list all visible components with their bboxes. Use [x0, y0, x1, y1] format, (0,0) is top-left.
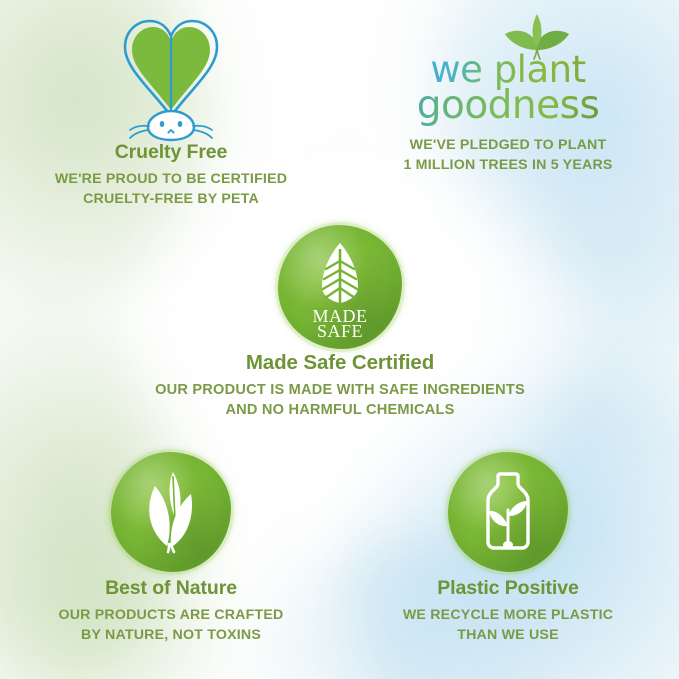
bottle-sprout-badge-icon: [448, 452, 568, 572]
made-safe-leaf-badge-icon: MADE SAFE: [278, 225, 402, 349]
badge-subtitle: WE'RE PROUD TO BE CERTIFIED CRUELTY-FREE…: [6, 170, 336, 209]
badge-plastic-positive: Plastic Positive WE RECYCLE MORE PLASTIC…: [343, 446, 673, 646]
subtitle-line: AND NO HARMFUL CHEMICALS: [110, 400, 570, 420]
subtitle-line: 1 MILLION TREES IN 5 YEARS: [343, 156, 673, 176]
subtitle-line: OUR PRODUCTS ARE CRAFTED: [6, 606, 336, 626]
subtitle-line: OUR PRODUCT IS MADE WITH SAFE INGREDIENT…: [110, 380, 570, 400]
three-leaves-glyph: [111, 452, 231, 572]
badge-cruelty-free: Cruelty Free WE'RE PROUD TO BE CERTIFIED…: [6, 10, 336, 210]
subtitle-line: THAN WE USE: [343, 626, 673, 646]
brand-values-poster: Cruelty Free WE'RE PROUD TO BE CERTIFIED…: [0, 0, 679, 679]
bottle-sprout-glyph: [448, 452, 568, 572]
badge-subtitle: WE RECYCLE MORE PLASTIC THAN WE USE: [343, 606, 673, 645]
subtitle-line: WE'VE PLEDGED TO PLANT: [343, 136, 673, 156]
subtitle-line: WE RECYCLE MORE PLASTIC: [343, 606, 673, 626]
badge-subtitle: WE'VE PLEDGED TO PLANT 1 MILLION TREES I…: [343, 136, 673, 175]
badge-made-safe-certified: MADE SAFE Made Safe Certified OUR PRODUC…: [110, 222, 570, 420]
badge-title: Cruelty Free: [6, 142, 336, 163]
logo-line-2: goodness: [398, 83, 618, 128]
cruelty-free-artwork: [6, 10, 336, 142]
we-plant-goodness-logo: we plant goodness: [398, 10, 618, 130]
three-leaves-badge-icon: [111, 452, 231, 572]
bunny-heart-icon: [112, 10, 230, 142]
badge-text-line-2: SAFE: [317, 321, 363, 341]
subtitle-line: CRUELTY-FREE BY PETA: [6, 190, 336, 210]
badge-title: Made Safe Certified: [110, 352, 570, 375]
badge-subtitle: OUR PRODUCT IS MADE WITH SAFE INGREDIENT…: [110, 380, 570, 420]
badge-we-plant-goodness: we plant goodness WE'VE PLEDGED TO PLANT…: [343, 10, 673, 175]
subtitle-line: WE'RE PROUD TO BE CERTIFIED: [6, 170, 336, 190]
plastic-positive-artwork: [343, 446, 673, 578]
subtitle-line: BY NATURE, NOT TOXINS: [6, 626, 336, 646]
badge-subtitle: OUR PRODUCTS ARE CRAFTED BY NATURE, NOT …: [6, 606, 336, 645]
badge-best-of-nature: Best of Nature OUR PRODUCTS ARE CRAFTED …: [6, 446, 336, 646]
best-of-nature-artwork: [6, 446, 336, 578]
leaf-glyph: MADE SAFE: [278, 225, 402, 349]
badge-title: Plastic Positive: [343, 578, 673, 599]
badge-title: Best of Nature: [6, 578, 336, 599]
made-safe-artwork: MADE SAFE: [110, 222, 570, 352]
